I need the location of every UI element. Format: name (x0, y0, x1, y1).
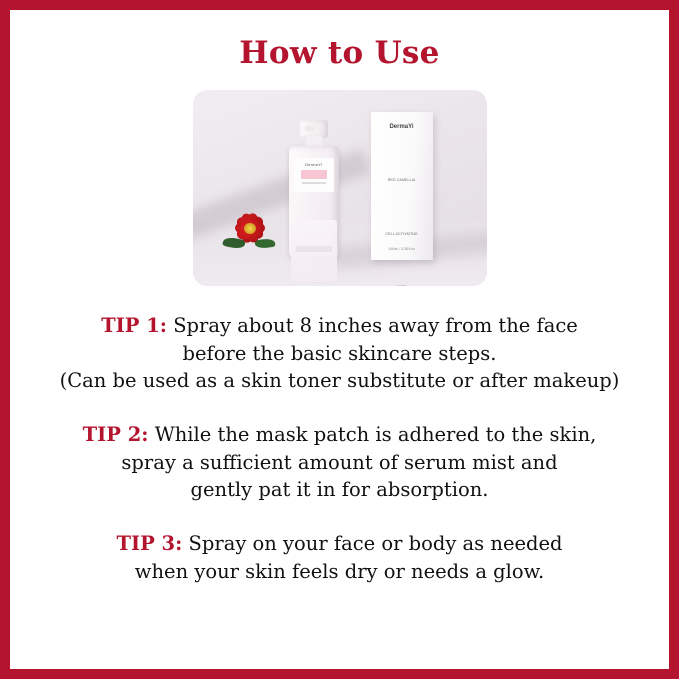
tip-3-label: TIP 3: (116, 532, 182, 555)
page-title: How to Use (239, 38, 439, 69)
tips-list: TIP 1: Spray about 8 inches away from th… (10, 312, 669, 586)
tip-2-line-2: spray a sufficient amount of serum mist … (10, 449, 669, 477)
bottle-label-pink-band (301, 170, 327, 179)
box-volume-text: 100mL / 3.38 fl.oz (371, 247, 433, 251)
box-description-line-2: CELL ACTIVATING (381, 232, 423, 238)
red-camellia-flower (221, 208, 279, 260)
box-brand-text: DermaYi (371, 124, 433, 130)
product-photo: DermaYi DermaYi RED CAMELLIA CELL ACTIVA… (193, 90, 487, 286)
tip-2-label: TIP 2: (83, 423, 149, 446)
product-box: DermaYi RED CAMELLIA CELL ACTIVATING MIS… (371, 112, 433, 260)
tip-3: TIP 3: Spray on your face or body as nee… (10, 530, 669, 585)
bottle-label: DermaYi (294, 158, 334, 192)
tip-1-line-1: Spray about 8 inches away from the face (173, 314, 578, 337)
bottle-brand-text: DermaYi (294, 162, 334, 167)
tip-3-line-2: when your skin feels dry or needs a glow… (10, 558, 669, 586)
box-description-line-3: MIST (381, 285, 423, 286)
tip-2-line-3: gently pat it in for absorption. (10, 476, 669, 504)
tip-2: TIP 2: While the mask patch is adhered t… (10, 421, 669, 504)
mist-bottle: DermaYi (289, 118, 339, 258)
how-to-use-infographic: How to Use DermaYi DermaYi RED CAMELLIA … (0, 0, 679, 679)
tip-2-line-1: While the mask patch is adhered to the s… (155, 423, 597, 446)
tip-1-line-2: before the basic skincare steps. (10, 340, 669, 368)
flower-center (244, 223, 256, 234)
tip-1-line-3: (Can be used as a skin toner substitute … (10, 367, 669, 395)
tip-3-line-1: Spray on your face or body as needed (189, 532, 563, 555)
bottle-label-rule (302, 182, 326, 184)
tip-1: TIP 1: Spray about 8 inches away from th… (10, 312, 669, 395)
tip-1-label: TIP 1: (101, 314, 167, 337)
box-description-line-1: RED CAMELLIA (381, 178, 423, 184)
bottle-nozzle (305, 126, 314, 131)
bottle-base (296, 246, 332, 252)
